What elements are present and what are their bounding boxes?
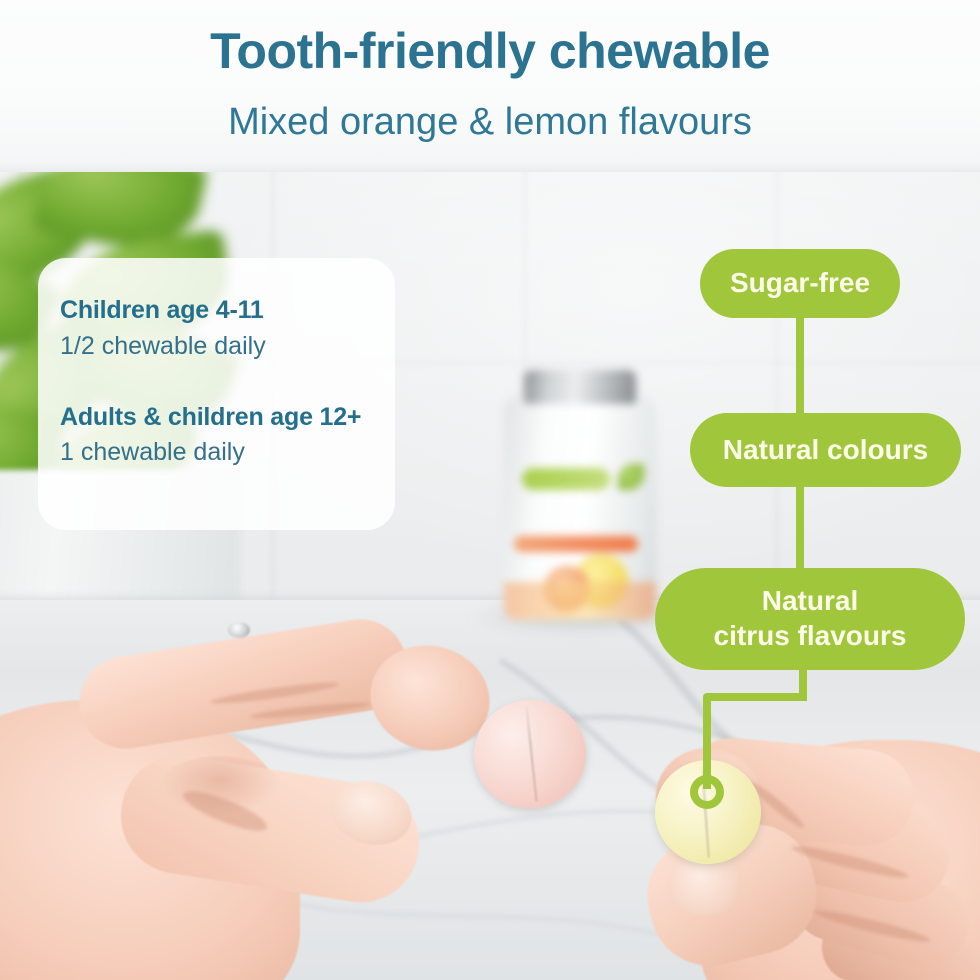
bottle-cap	[524, 370, 636, 404]
supplement-bottle	[498, 370, 662, 620]
page-title: Tooth-friendly chewable	[0, 22, 980, 80]
feature-pill-natural-colours: Natural colours	[690, 413, 961, 487]
feature-pill-sugar-free: Sugar-free	[700, 249, 900, 318]
feature-pill-line-2: citrus flavours	[714, 619, 907, 654]
connector-line-1	[796, 312, 804, 418]
bottle-label-accent	[514, 536, 638, 552]
dosage-entry-title-children: Children age 4-11	[60, 296, 395, 325]
connector-line-2	[796, 482, 804, 574]
dosage-card: Children age 4-11 1/2 chewable daily Adu…	[38, 258, 395, 530]
dosage-entry-title-adults: Adults & children age 12+	[60, 403, 395, 432]
dosage-entry-detail-adults: 1 chewable daily	[60, 438, 395, 467]
bottle-label-band	[522, 468, 610, 490]
bottle-label-gradient	[504, 582, 656, 620]
dosage-spacer	[60, 361, 395, 403]
pink-tablet-score-line	[525, 706, 538, 801]
feature-pill-line-1: Natural	[714, 584, 907, 619]
dosage-entry-detail-children: 1/2 chewable daily	[60, 332, 395, 361]
connector-ring-marker	[690, 775, 724, 809]
page-subtitle: Mixed orange & lemon flavours	[0, 101, 980, 144]
feature-pill-natural-citrus-flavours: Natural citrus flavours	[655, 568, 965, 670]
connector-line-horizontal	[703, 693, 807, 701]
product-infographic: Tooth-friendly chewable Mixed orange & l…	[0, 0, 980, 980]
finger-ring	[228, 622, 250, 638]
